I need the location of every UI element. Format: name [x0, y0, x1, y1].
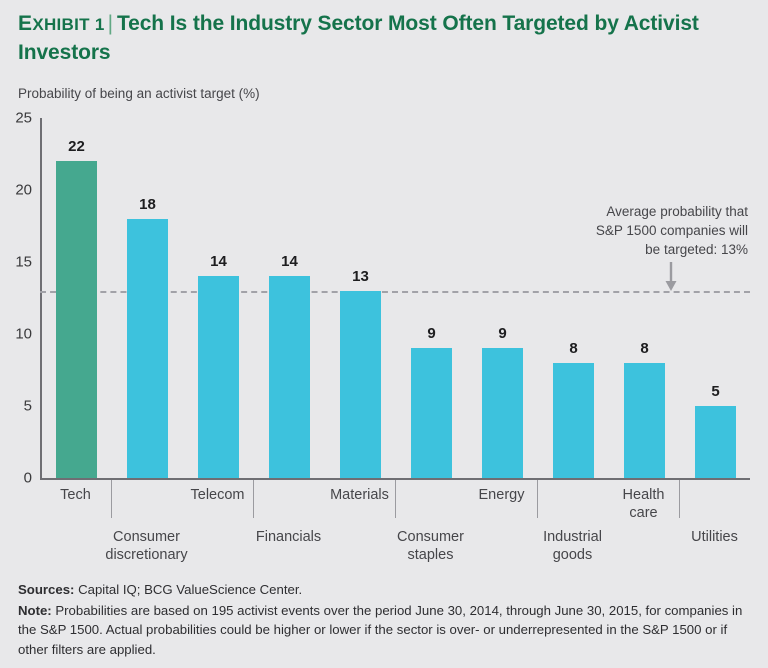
bar[interactable]	[482, 348, 523, 478]
bar-slot: 13	[325, 118, 396, 478]
y-axis-tick-25: 25	[15, 110, 32, 127]
x-axis-label-line: Consumer	[87, 528, 207, 546]
annotation-line-2: S&P 1500 companies will	[552, 221, 748, 240]
bar-slot: 22	[41, 118, 112, 478]
bar-slot: 8	[538, 118, 609, 478]
y-axis-tick-15: 15	[15, 254, 32, 271]
x-axis-label-line: discretionary	[87, 546, 207, 564]
exhibit-number-label: EXHIBIT 1	[18, 15, 105, 34]
x-axis-label-line: Materials	[300, 486, 420, 504]
x-axis-labels: TechConsumerdiscretionaryTelecomFinancia…	[40, 480, 750, 570]
x-axis-label-materials: Materials	[300, 486, 420, 504]
footnote-note: Note: Probabilities are based on 195 act…	[18, 601, 748, 660]
x-axis-label-line: care	[584, 504, 704, 522]
footnote-note-text: Probabilities are based on 195 activist …	[18, 603, 742, 657]
footnote-note-label: Note:	[18, 603, 52, 618]
x-axis-label-tech: Tech	[16, 486, 136, 504]
x-axis-label-financials: Financials	[229, 528, 349, 546]
bar-slot: 5	[680, 118, 751, 478]
bar-value-label: 14	[183, 253, 254, 270]
down-arrow-icon	[664, 262, 678, 292]
bar[interactable]	[56, 161, 97, 478]
exhibit-title-block: EXHIBIT 1|Tech Is the Industry Sector Mo…	[18, 10, 752, 67]
x-axis-label-health-care: Healthcare	[584, 486, 704, 522]
x-axis-separator-tick	[537, 480, 538, 518]
x-axis-label-consumer-staples: Consumerstaples	[371, 528, 491, 564]
footnote-sources-text: Capital IQ; BCG ValueScience Center.	[74, 582, 302, 597]
title-heading-text: Tech Is the Industry Sector Most Often T…	[18, 12, 699, 64]
footnote-sources: Sources: Capital IQ; BCG ValueScience Ce…	[18, 580, 748, 600]
chart-plot-area: 0510152025 221814141399885	[40, 118, 750, 480]
bar[interactable]	[269, 276, 310, 478]
average-annotation: Average probability that S&P 1500 compan…	[552, 202, 748, 259]
bar-value-label: 5	[680, 383, 751, 400]
bar-value-label: 13	[325, 268, 396, 285]
exhibit-number-text: XHIBIT 1	[32, 15, 104, 34]
bar[interactable]	[624, 363, 665, 478]
footnote-sources-label: Sources:	[18, 582, 74, 597]
x-axis-label-telecom: Telecom	[158, 486, 278, 504]
x-axis-label-line: Consumer	[371, 528, 491, 546]
y-axis-tick-10: 10	[15, 326, 32, 343]
title-separator: |	[105, 12, 117, 35]
x-axis-separator-tick	[253, 480, 254, 518]
bar-slot: 18	[112, 118, 183, 478]
bar[interactable]	[695, 406, 736, 478]
y-axis-tick-20: 20	[15, 182, 32, 199]
bar-value-label: 22	[41, 138, 112, 155]
x-axis-label-utilities: Utilities	[655, 528, 768, 546]
footnotes: Sources: Capital IQ; BCG ValueScience Ce…	[18, 580, 748, 659]
x-axis-label-industrial-goods: Industrialgoods	[513, 528, 633, 564]
annotation-line-3: be targeted: 13%	[552, 240, 748, 259]
x-axis-label-energy: Energy	[442, 486, 562, 504]
bar[interactable]	[411, 348, 452, 478]
bar[interactable]	[340, 291, 381, 478]
bar-value-label: 9	[396, 325, 467, 342]
bar[interactable]	[127, 219, 168, 478]
x-axis-separator-tick	[111, 480, 112, 518]
x-axis-separator-tick	[395, 480, 396, 518]
x-axis-label-line: Telecom	[158, 486, 278, 504]
x-axis-separator-tick	[679, 480, 680, 518]
bar[interactable]	[198, 276, 239, 478]
page-title: EXHIBIT 1|Tech Is the Industry Sector Mo…	[18, 10, 752, 67]
bar-value-label: 14	[254, 253, 325, 270]
y-axis-tick-0: 0	[24, 470, 32, 487]
bar-value-label: 8	[609, 340, 680, 357]
x-axis-label-line: Tech	[16, 486, 136, 504]
bar-slot: 14	[183, 118, 254, 478]
bar-value-label: 8	[538, 340, 609, 357]
bar-slot: 9	[467, 118, 538, 478]
y-axis-caption: Probability of being an activist target …	[18, 86, 260, 101]
x-axis-label-line: Utilities	[655, 528, 768, 546]
x-axis-label-line: goods	[513, 546, 633, 564]
x-axis-label-line: Financials	[229, 528, 349, 546]
x-axis-label-consumer-discretionary: Consumerdiscretionary	[87, 528, 207, 564]
bar-value-label: 9	[467, 325, 538, 342]
bar-value-label: 18	[112, 196, 183, 213]
x-axis-label-line: Health	[584, 486, 704, 504]
bar[interactable]	[553, 363, 594, 478]
x-axis-label-line: Industrial	[513, 528, 633, 546]
x-axis-label-line: Energy	[442, 486, 562, 504]
bar-series: 221814141399885	[40, 118, 750, 478]
bar-slot: 9	[396, 118, 467, 478]
x-axis-label-line: staples	[371, 546, 491, 564]
bar-slot: 14	[254, 118, 325, 478]
y-axis-tick-5: 5	[24, 398, 32, 415]
bar-slot: 8	[609, 118, 680, 478]
annotation-line-1: Average probability that	[552, 202, 748, 221]
